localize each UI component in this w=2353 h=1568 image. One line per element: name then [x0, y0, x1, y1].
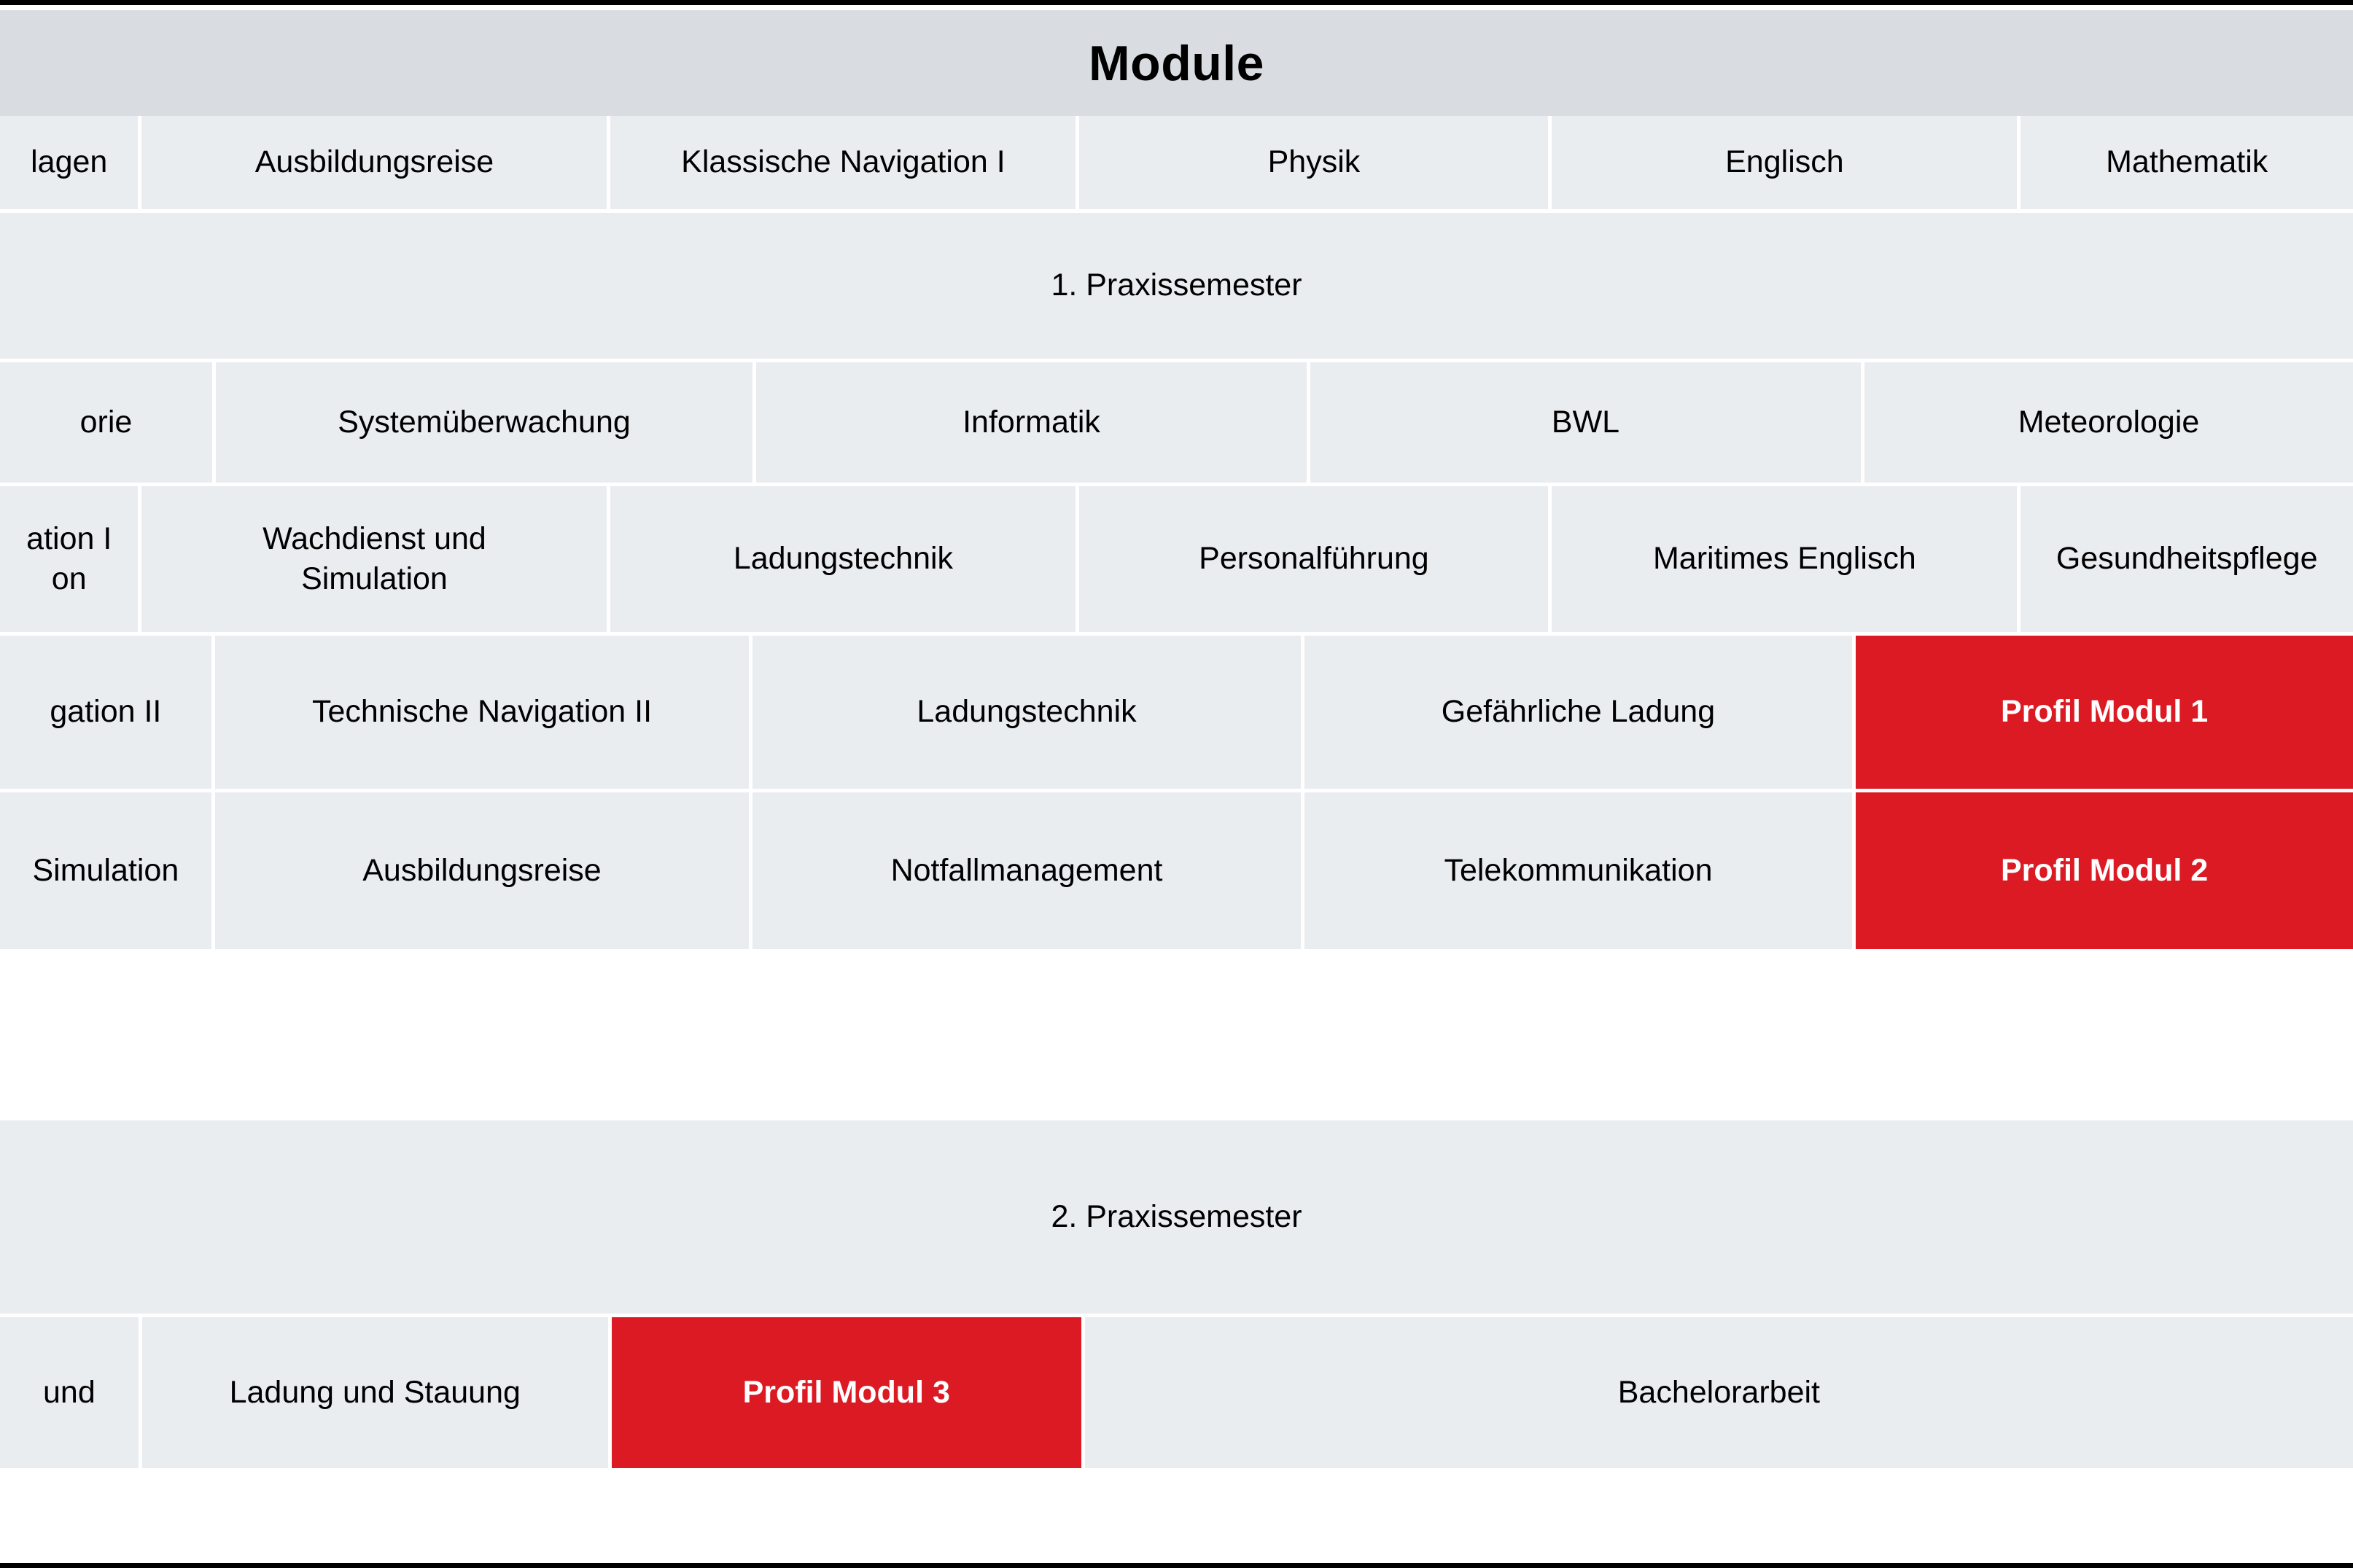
module-cell[interactable]: Ausbildungsreise: [215, 792, 750, 949]
module-cell[interactable]: Ausbildungsreise: [141, 116, 607, 209]
module-cell[interactable]: Informatik: [756, 362, 1307, 483]
praxissemester-label: 1. Praxissemester: [0, 213, 2353, 359]
module-cell[interactable]: Wachdienst und Simulation: [141, 486, 607, 632]
profil-modul-3-cell[interactable]: Profil Modul 3: [612, 1317, 1081, 1468]
module-cell[interactable]: Maritimes Englisch: [1552, 486, 2017, 632]
module-cell[interactable]: Ladung und Stauung: [142, 1317, 608, 1468]
module-cell[interactable]: Gefährliche Ladung: [1304, 636, 1852, 789]
module-cell[interactable]: Simulation: [0, 792, 211, 949]
module-cell[interactable]: Gesundheitspflege: [2021, 486, 2353, 632]
page-header: Module: [0, 10, 2353, 116]
module-plan-sheet: Module lagen Ausbildungsreise Klassische…: [0, 0, 2353, 1568]
module-cell[interactable]: Englisch: [1552, 116, 2017, 209]
module-cell[interactable]: Klassische Navigation I: [610, 116, 1076, 209]
module-cell[interactable]: orie: [0, 362, 212, 483]
semester-modules-row-4: gation II Technische Navigation II Ladun…: [0, 636, 2353, 789]
semester-modules-row-1: lagen Ausbildungsreise Klassische Naviga…: [0, 116, 2353, 209]
module-cell[interactable]: lagen: [0, 116, 138, 209]
module-cell[interactable]: Ladungstechnik: [752, 636, 1300, 789]
module-cell[interactable]: Ladungstechnik: [610, 486, 1076, 632]
semester-modules-row-2: orie Systemüberwachung Informatik BWL Me…: [0, 362, 2353, 483]
module-cell[interactable]: Technische Navigation II: [215, 636, 750, 789]
module-cell[interactable]: Systemüberwachung: [216, 362, 752, 483]
praxissemester-1-band: 1. Praxissemester: [0, 213, 2353, 359]
semester-modules-row-5: Simulation Ausbildungsreise Notfallmanag…: [0, 792, 2353, 949]
module-cell[interactable]: und: [0, 1317, 139, 1468]
praxissemester-label: 2. Praxissemester: [0, 1120, 2353, 1314]
module-cell[interactable]: Personalführung: [1079, 486, 1548, 632]
praxissemester-2-band: 2. Praxissemester: [0, 1120, 2353, 1314]
module-cell[interactable]: BWL: [1310, 362, 1861, 483]
module-cell[interactable]: Meteorologie: [1864, 362, 2353, 483]
module-cell[interactable]: Mathematik: [2021, 116, 2353, 209]
module-cell[interactable]: Physik: [1079, 116, 1548, 209]
module-cell[interactable]: Telekommunikation: [1304, 792, 1852, 949]
semester-modules-row-6: und Ladung und Stauung Profil Modul 3 Ba…: [0, 1317, 2353, 1468]
module-cell[interactable]: ation I on: [0, 486, 138, 632]
bachelorarbeit-cell[interactable]: Bachelorarbeit: [1085, 1317, 2353, 1468]
module-cell[interactable]: Notfallmanagement: [752, 792, 1300, 949]
page-title: Module: [1089, 39, 1264, 88]
semester-modules-row-3: ation I on Wachdienst und Simulation Lad…: [0, 486, 2353, 632]
profil-modul-2-cell[interactable]: Profil Modul 2: [1856, 792, 2353, 949]
profil-modul-1-cell[interactable]: Profil Modul 1: [1856, 636, 2353, 789]
module-cell[interactable]: gation II: [0, 636, 211, 789]
